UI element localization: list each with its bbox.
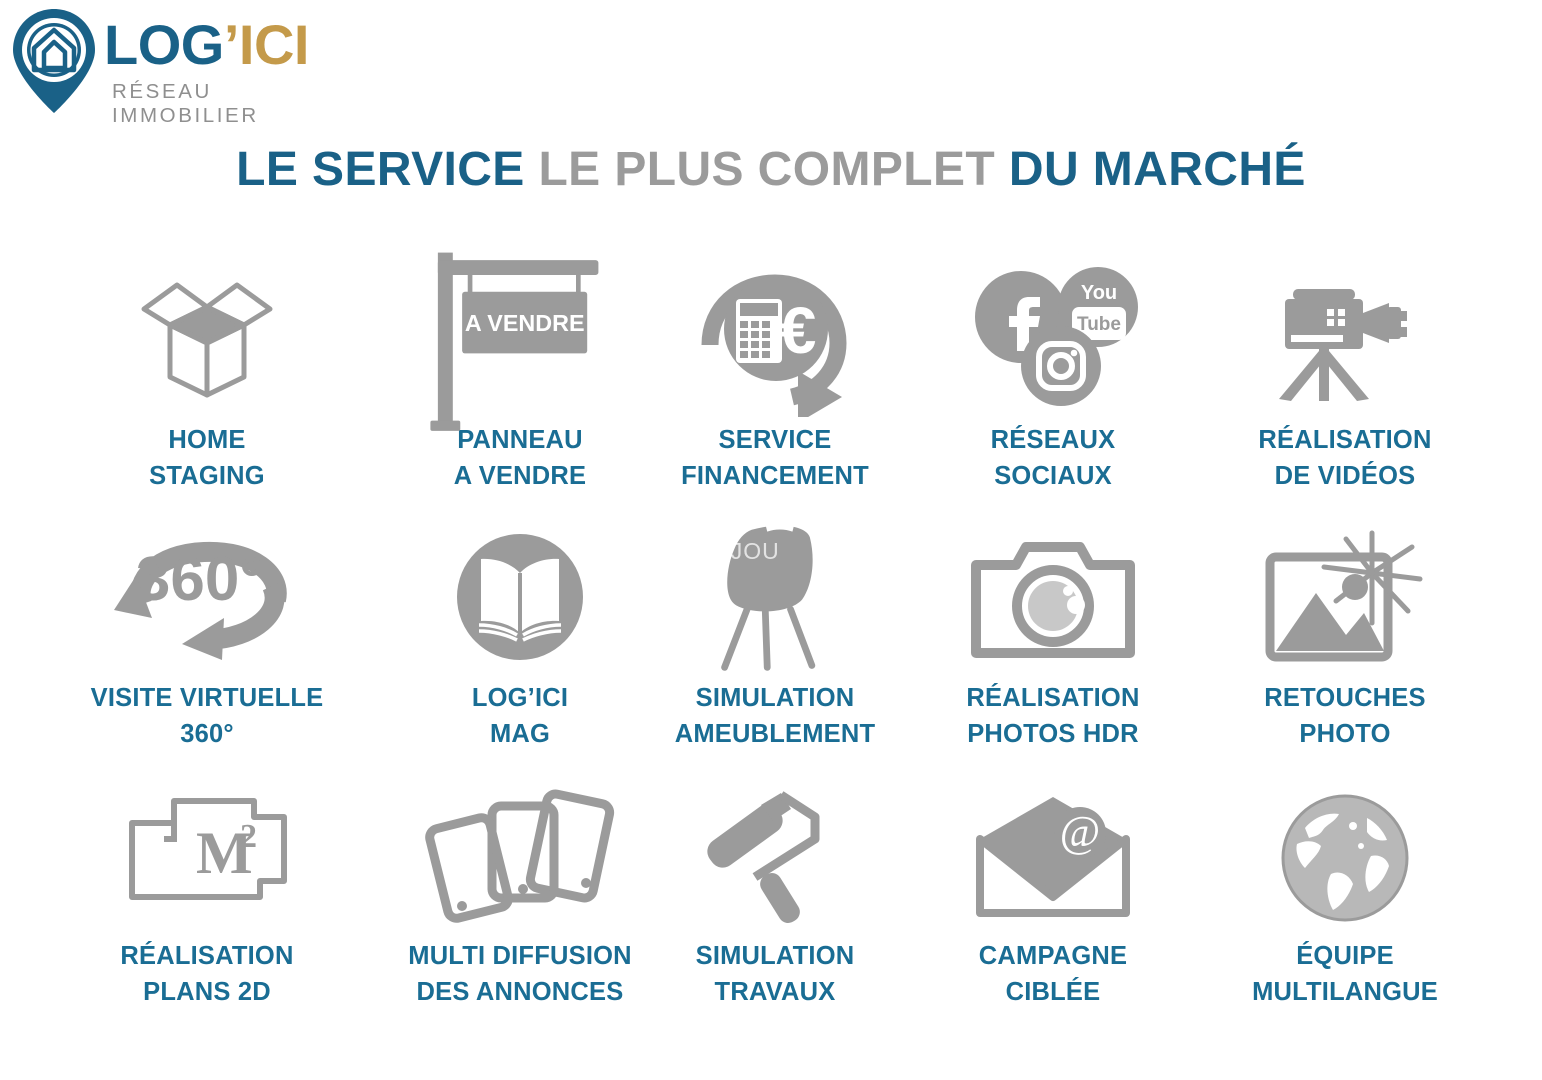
services-row-3: M 2 RÉALISATION PLANS 2D: [0, 778, 1542, 1036]
photo-camera-icon: [943, 520, 1163, 680]
svg-text:€: €: [780, 293, 817, 367]
icon-text-superscript: 2: [240, 818, 257, 855]
page-title: LE SERVICE LE PLUS COMPLET DU MARCHÉ: [0, 142, 1542, 197]
logo-apostrophe: ’: [224, 13, 239, 76]
service-label: RÉALISATION DE VIDÉOS: [1258, 422, 1431, 494]
service-item-multi-diffusion[interactable]: MULTI DIFFUSION DES ANNONCES: [380, 778, 660, 1036]
services-row-1: HOME STAGING A VENDRE: [0, 262, 1542, 520]
service-label-line-2: PHOTOS HDR: [966, 716, 1139, 752]
service-item-campagne-ciblee[interactable]: @ CAMPAGNE CIBLÉE: [913, 778, 1193, 1036]
open-book-icon: [410, 520, 630, 680]
service-label-line-1: CAMPAGNE: [979, 942, 1127, 970]
service-label-line-2: STAGING: [149, 458, 265, 494]
service-item-plans-2d[interactable]: M 2 RÉALISATION PLANS 2D: [67, 778, 347, 1036]
video-camera-tripod-icon: [1235, 262, 1455, 422]
logo-wordmark: LOG’ICI: [104, 16, 309, 74]
icon-text-360: 360°: [136, 545, 264, 614]
service-item-photos-hdr[interactable]: RÉALISATION PHOTOS HDR: [913, 520, 1193, 778]
service-label-line-1: RÉALISATION: [1258, 426, 1431, 454]
service-label: RETOUCHES PHOTO: [1264, 680, 1425, 752]
service-item-panneau-a-vendre[interactable]: A VENDRE PANNEAU A VENDRE: [380, 262, 660, 520]
service-label-line-1: RÉALISATION: [120, 942, 293, 970]
service-label-line-1: ÉQUIPE: [1296, 942, 1394, 970]
service-label: RÉALISATION PHOTOS HDR: [966, 680, 1139, 752]
service-label: SERVICE FINANCEMENT: [681, 422, 869, 494]
title-part-1: LE SERVICE: [236, 143, 525, 196]
service-item-retouches-photo[interactable]: RETOUCHES PHOTO: [1205, 520, 1485, 778]
social-networks-icon: You Tube: [943, 262, 1163, 422]
service-item-equipe-multilangue[interactable]: ÉQUIPE MULTILANGUE: [1205, 778, 1485, 1036]
sign-text: A VENDRE: [465, 310, 585, 336]
for-sale-sign-icon: A VENDRE: [410, 262, 630, 422]
image-sparkle-icon: [1235, 520, 1455, 680]
service-label: LOG’ICI MAG: [472, 680, 568, 752]
service-label-line-2: 360°: [91, 716, 324, 752]
service-label-line-1: SIMULATION: [696, 942, 855, 970]
instagram-icon: [1021, 326, 1101, 406]
service-label: SIMULATION TRAVAUX: [696, 938, 855, 1010]
service-label-line-2: TRAVAUX: [696, 974, 855, 1010]
service-item-realisation-videos[interactable]: RÉALISATION DE VIDÉOS: [1205, 262, 1485, 520]
title-part-2: LE PLUS COMPLET: [538, 143, 995, 196]
service-label-line-1: RETOUCHES: [1264, 684, 1425, 712]
service-label-line-1: RÉALISATION: [966, 684, 1139, 712]
tablets-devices-icon: [410, 778, 630, 938]
service-label-line-2: FINANCEMENT: [681, 458, 869, 494]
service-label-line-2: CIBLÉE: [979, 974, 1127, 1010]
service-label: HOME STAGING: [149, 422, 265, 494]
services-row-2: 360° VISITE VIRTUELLE 360°: [0, 520, 1542, 778]
service-label-line-2: PHOTO: [1264, 716, 1425, 752]
chair-icon: AZAJOU: [665, 520, 885, 680]
service-label-line-2: PLANS 2D: [120, 974, 293, 1010]
service-item-home-staging[interactable]: HOME STAGING: [67, 262, 347, 520]
service-label-line-1: LOG’ICI: [472, 684, 568, 712]
service-label-line-2: A VENDRE: [454, 458, 586, 494]
icon-text-at: @: [1060, 807, 1101, 856]
globe-icon: [1235, 778, 1455, 938]
logo-tagline: RÉSEAU IMMOBILIER: [112, 80, 338, 128]
service-label-line-2: DES ANNONCES: [408, 974, 632, 1010]
service-item-logici-mag[interactable]: LOG’ICI MAG: [380, 520, 660, 778]
service-label-line-2: MAG: [472, 716, 568, 752]
service-item-visite-virtuelle[interactable]: 360° VISITE VIRTUELLE 360°: [67, 520, 347, 778]
service-label: CAMPAGNE CIBLÉE: [979, 938, 1127, 1010]
logo-text-ici: ICI: [239, 13, 309, 76]
service-label-line-1: HOME: [168, 426, 245, 454]
infographic-page: LOG’ICI RÉSEAU IMMOBILIER LE SERVICE LE …: [0, 0, 1542, 1080]
service-label-line-1: SERVICE: [719, 426, 832, 454]
euro-calculator-arrow-icon: €: [665, 262, 885, 422]
service-label-line-1: RÉSEAUX: [991, 426, 1116, 454]
service-label-line-1: VISITE VIRTUELLE: [91, 684, 324, 712]
service-label: SIMULATION AMEUBLEMENT: [675, 680, 876, 752]
email-envelope-at-icon: @: [943, 778, 1163, 938]
service-label-line-2: MULTILANGUE: [1252, 974, 1438, 1010]
services-grid: HOME STAGING A VENDRE: [0, 262, 1542, 1036]
service-label-line-2: DE VIDÉOS: [1258, 458, 1431, 494]
svg-text:You: You: [1081, 282, 1117, 304]
svg-text:Tube: Tube: [1077, 314, 1121, 335]
service-label-line-2: SOCIAUX: [991, 458, 1116, 494]
service-label-line-1: MULTI DIFFUSION: [408, 942, 632, 970]
title-part-3: DU MARCHÉ: [1009, 143, 1306, 196]
service-label: MULTI DIFFUSION DES ANNONCES: [408, 938, 632, 1010]
paint-roller-icon: [665, 778, 885, 938]
map-pin-house-icon: [8, 6, 100, 116]
open-box-icon: [97, 262, 317, 422]
service-label: RÉALISATION PLANS 2D: [120, 938, 293, 1010]
360-degrees-icon: 360°: [97, 520, 317, 680]
service-item-service-financement[interactable]: € SERVICE FINANCEMENT: [635, 262, 915, 520]
service-label-line-2: AMEUBLEMENT: [675, 716, 876, 752]
service-label-line-1: SIMULATION: [696, 684, 855, 712]
service-item-simulation-travaux[interactable]: SIMULATION TRAVAUX: [635, 778, 915, 1036]
brand-logo: LOG’ICI RÉSEAU IMMOBILIER: [8, 4, 338, 116]
service-item-reseaux-sociaux[interactable]: You Tube RÉSEAUX SOCIAUX: [913, 262, 1193, 520]
floorplan-m2-icon: M 2: [97, 778, 317, 938]
service-item-simulation-ameublement[interactable]: AZAJOU SIMULATION AMEUBLEMENT: [635, 520, 915, 778]
logo-text-log: LOG: [104, 13, 224, 76]
service-label: RÉSEAUX SOCIAUX: [991, 422, 1116, 494]
service-label: VISITE VIRTUELLE 360°: [91, 680, 324, 752]
service-label: ÉQUIPE MULTILANGUE: [1252, 938, 1438, 1010]
